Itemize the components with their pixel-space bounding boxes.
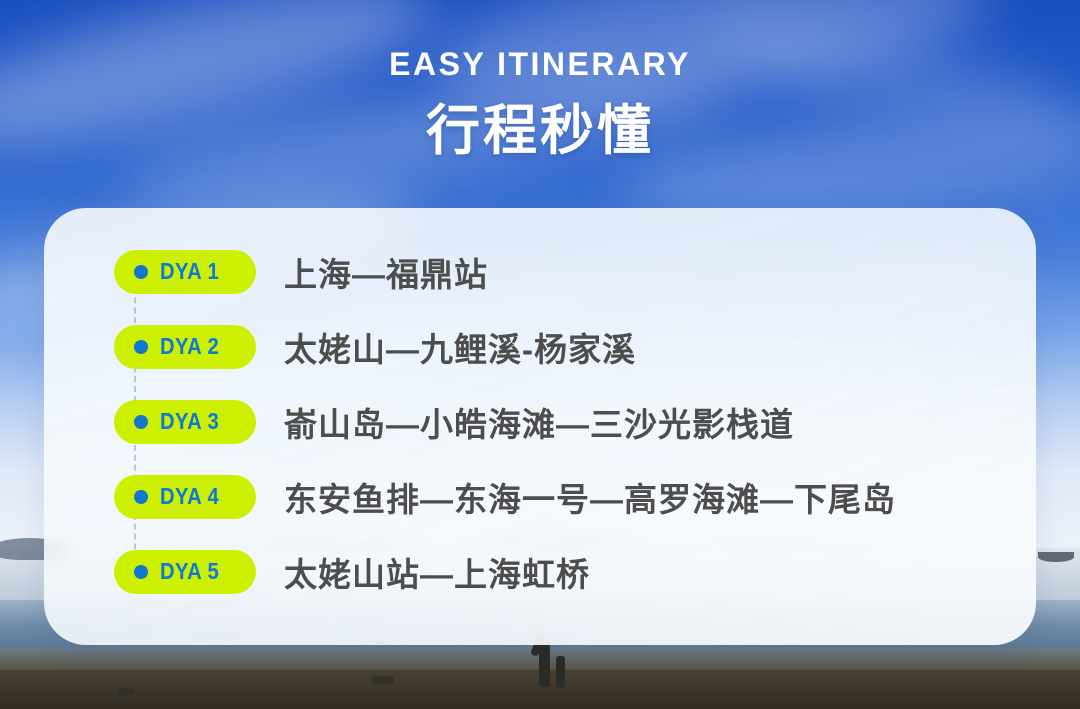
list-item[interactable]: DYA 3 嵛山岛—小皓海滩—三沙光影栈道 bbox=[114, 384, 1006, 459]
list-item[interactable]: DYA 2 太姥山—九鲤溪-杨家溪 bbox=[114, 309, 1006, 384]
itinerary-row-text: 东安鱼排—东海一号—高罗海滩—下尾岛 bbox=[284, 473, 896, 521]
day-badge-label: DYA 4 bbox=[160, 483, 219, 510]
day-badge-label: DYA 2 bbox=[160, 333, 219, 360]
itinerary-row-text: 太姥山—九鲤溪-杨家溪 bbox=[284, 323, 636, 371]
bullet-dot-icon bbox=[134, 340, 148, 354]
page-title-english: EASY ITINERARY bbox=[0, 46, 1080, 83]
day-badge-5[interactable]: DYA 5 bbox=[114, 550, 256, 594]
list-item[interactable]: DYA 4 东安鱼排—东海一号—高罗海滩—下尾岛 bbox=[114, 459, 1006, 534]
itinerary-card: DYA 1 上海—福鼎站 DYA 2 太姥山—九鲤溪-杨家溪 DYA 3 嵛山岛… bbox=[44, 208, 1036, 645]
list-item[interactable]: DYA 5 太姥山站—上海虹桥 bbox=[114, 534, 1006, 609]
day-badge-label: DYA 1 bbox=[160, 258, 219, 285]
bullet-dot-icon bbox=[134, 415, 148, 429]
list-item[interactable]: DYA 1 上海—福鼎站 bbox=[114, 234, 1006, 309]
day-badge-4[interactable]: DYA 4 bbox=[114, 475, 256, 519]
day-badge-3[interactable]: DYA 3 bbox=[114, 400, 256, 444]
itinerary-row-text: 太姥山站—上海虹桥 bbox=[284, 548, 590, 596]
day-badge-label: DYA 3 bbox=[160, 408, 219, 435]
day-badge-2[interactable]: DYA 2 bbox=[114, 325, 256, 369]
page-title-chinese: 行程秒懂 bbox=[0, 86, 1080, 165]
bullet-dot-icon bbox=[134, 265, 148, 279]
day-badge-1[interactable]: DYA 1 bbox=[114, 250, 256, 294]
itinerary-row-text: 嵛山岛—小皓海滩—三沙光影栈道 bbox=[284, 398, 794, 446]
itinerary-row-text: 上海—福鼎站 bbox=[284, 248, 488, 296]
itinerary-poster: EASY ITINERARY 行程秒懂 DYA 1 上海—福鼎站 DYA 2 太… bbox=[0, 0, 1080, 709]
itinerary-list: DYA 1 上海—福鼎站 DYA 2 太姥山—九鲤溪-杨家溪 DYA 3 嵛山岛… bbox=[114, 234, 1006, 609]
bullet-dot-icon bbox=[134, 565, 148, 579]
day-badge-label: DYA 5 bbox=[160, 558, 219, 585]
bullet-dot-icon bbox=[134, 490, 148, 504]
